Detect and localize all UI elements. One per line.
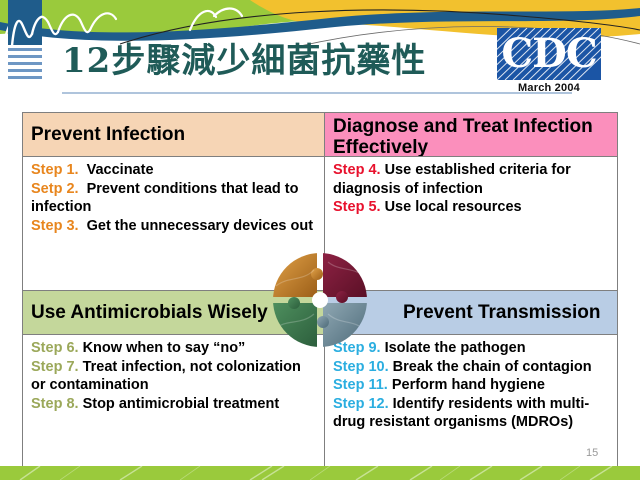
step-item: Step 3. Get the unnecessary devices out — [31, 217, 316, 236]
step-text: Use local resources — [385, 199, 522, 215]
step-item: Step 7. Treat infection, not colonizatio… — [31, 358, 316, 395]
quadrant-header-prevent-transmission: Prevent Transmission — [325, 291, 617, 335]
step-text: Perform hand hygiene — [392, 377, 545, 393]
step-item: Step 9. Isolate the pathogen — [333, 339, 609, 358]
cdc-logo-text: CDC — [497, 28, 601, 80]
quadrant-body-diagnose-treat: Step 4. Use established criteria for dia… — [325, 157, 617, 291]
step-number: Step 11. — [333, 377, 388, 393]
agency-mark-block — [8, 0, 42, 45]
step-item: Step 12. Identify residents with multi-d… — [333, 395, 609, 432]
page-number: 15 — [586, 447, 598, 459]
quadrant-header-label: Prevent Transmission — [403, 302, 600, 323]
step-text: Isolate the pathogen — [385, 340, 526, 356]
step-text: Break the chain of contagion — [393, 359, 592, 375]
step-number: Step 10. — [333, 359, 389, 375]
page-title: 12步驟減少細菌抗藥性 — [62, 33, 426, 82]
step-number: Step 1. — [31, 162, 79, 178]
step-item: Step 10. Break the chain of contagion — [333, 358, 609, 377]
step-number: Step 4. — [333, 162, 381, 178]
step-number: Step 7. — [31, 359, 79, 375]
step-text: Stop antimicrobial treatment — [83, 396, 280, 412]
step-number: Step 5. — [333, 199, 381, 215]
quadrant-header-label: Prevent Infection — [31, 124, 185, 145]
step-item: Step 8. Stop antimicrobial treatment — [31, 395, 316, 414]
logo-date: March 2004 — [497, 82, 601, 94]
step-item: Step 1. Vaccinate — [31, 161, 316, 180]
four-piece-puzzle-icon — [272, 252, 368, 348]
quadrant-header-diagnose-treat: Diagnose and Treat Infection Effectively — [325, 113, 617, 157]
footer-decoration — [0, 466, 640, 480]
step-text: Vaccinate — [87, 162, 154, 178]
step-number: Step 3. — [31, 218, 79, 234]
quadrant-body-use-antimicrobials: Step 6. Know when to say “no” Step 7. Tr… — [23, 335, 325, 469]
step-number: Setp 2. — [31, 181, 79, 197]
quadrant-header-label: Diagnose and Treat Infection Effectively — [333, 116, 609, 157]
quadrant-body-prevent-transmission: Step 9. Isolate the pathogen Step 10. Br… — [325, 335, 617, 469]
step-text: Get the unnecessary devices out — [87, 218, 313, 234]
step-text: Know when to say “no” — [83, 340, 246, 356]
quadrant-header-prevent-infection: Prevent Infection — [23, 113, 325, 157]
decorative-stripes — [8, 48, 42, 84]
step-item: Step 11. Perform hand hygiene — [333, 376, 609, 395]
step-item: Setp 2. Prevent conditions that lead to … — [31, 180, 316, 217]
step-number: Step 8. — [31, 396, 79, 412]
step-item: Step 4. Use established criteria for dia… — [333, 161, 609, 198]
title-underline — [62, 92, 572, 94]
cdc-logo: CDC — [497, 28, 601, 80]
step-number: Step 12. — [333, 396, 389, 412]
quadrant-header-label: Use Antimicrobials Wisely — [31, 302, 268, 323]
step-number: Step 6. — [31, 340, 79, 356]
step-item: Step 5. Use local resources — [333, 198, 609, 217]
